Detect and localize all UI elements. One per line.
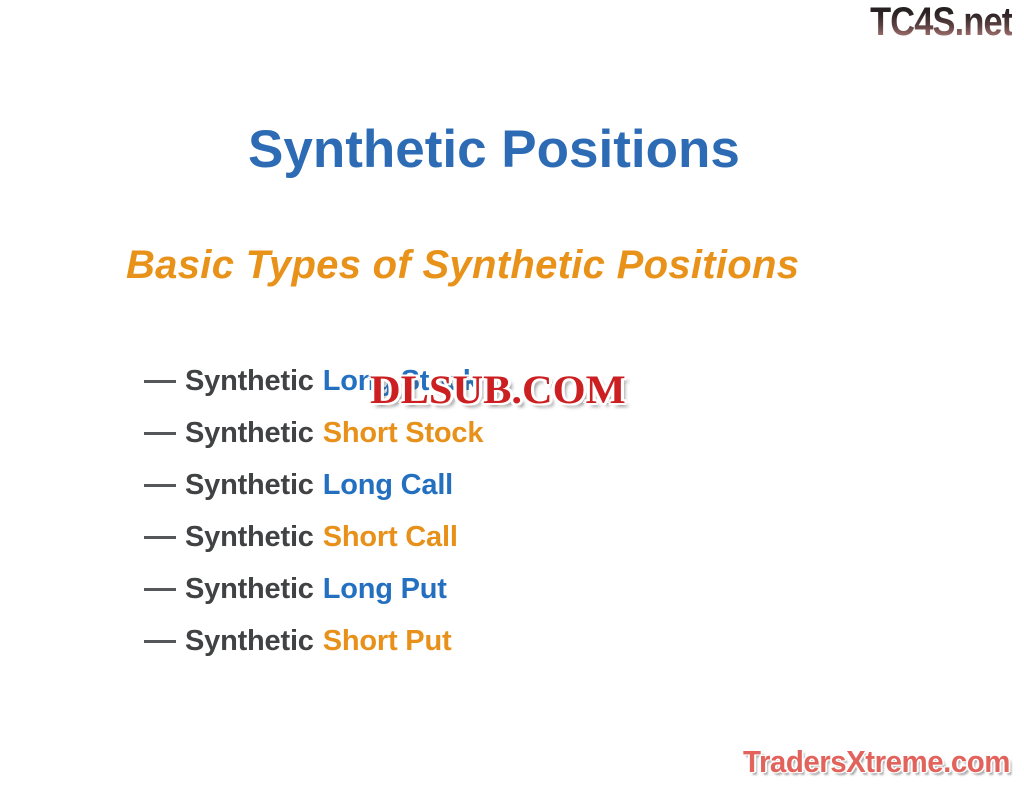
tc4s-watermark: TC4S.net bbox=[870, 2, 1012, 42]
bullet-value-text: Short Stock bbox=[323, 417, 484, 450]
bullet-lead-text: Synthetic bbox=[185, 469, 314, 502]
em-dash-bullet-icon bbox=[144, 640, 176, 643]
bullet-lead-text: Synthetic bbox=[185, 417, 314, 450]
em-dash-bullet-icon bbox=[144, 536, 176, 539]
slide-title: Synthetic Positions bbox=[248, 122, 740, 178]
bullet-lead-text: Synthetic bbox=[185, 521, 314, 554]
dlsub-watermark: DLSUB.COM bbox=[370, 369, 626, 411]
slide-subtitle: Basic Types of Synthetic Positions bbox=[126, 243, 799, 287]
list-item: Synthetic Short Call bbox=[144, 511, 904, 563]
tradersxtreme-watermark: TradersXtreme.com bbox=[743, 746, 1010, 777]
slide-canvas: TC4S.net Synthetic Positions Basic Types… bbox=[0, 0, 1024, 791]
list-item: Synthetic Short Put bbox=[144, 615, 904, 667]
bullet-lead-text: Synthetic bbox=[185, 573, 314, 606]
list-item: Synthetic Long Put bbox=[144, 563, 904, 615]
bullet-lead-text: Synthetic bbox=[185, 365, 314, 398]
em-dash-bullet-icon bbox=[144, 380, 176, 383]
bullet-value-text: Short Call bbox=[323, 521, 458, 554]
bullet-lead-text: Synthetic bbox=[185, 625, 314, 658]
bullet-value-text: Long Call bbox=[323, 469, 453, 502]
em-dash-bullet-icon bbox=[144, 588, 176, 591]
list-item: Synthetic Long Call bbox=[144, 459, 904, 511]
bullet-value-text: Short Put bbox=[323, 625, 452, 658]
list-item: Synthetic Short Stock bbox=[144, 407, 904, 459]
em-dash-bullet-icon bbox=[144, 484, 176, 487]
bullet-value-text: Long Put bbox=[323, 573, 447, 606]
em-dash-bullet-icon bbox=[144, 432, 176, 435]
